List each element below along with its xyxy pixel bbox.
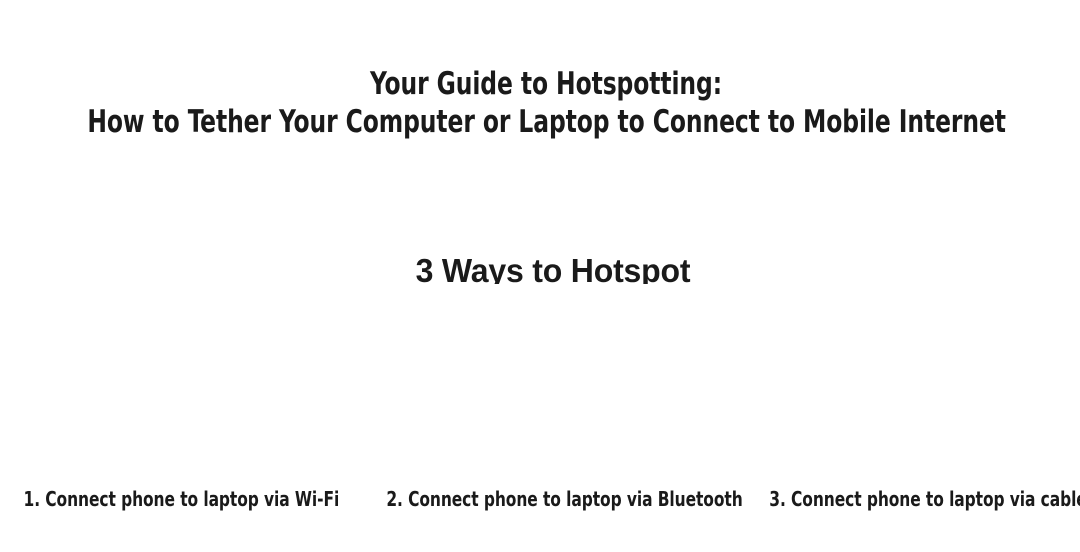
method-caption-wifi: 1. Connect phone to laptop via Wi-Fi xyxy=(24,486,313,512)
article-page: Your Guide to Hotspotting: How to Tether… xyxy=(0,0,1080,552)
page-title-line-2: How to Tether Your Computer or Laptop to… xyxy=(87,103,1004,141)
method-image-bluetooth xyxy=(368,284,712,480)
method-image-cable xyxy=(728,284,1072,480)
method-captions: 1. Connect phone to laptop via Wi-Fi 2. … xyxy=(0,486,1080,516)
page-title: Your Guide to Hotspotting: How to Tether… xyxy=(87,65,1004,141)
method-caption-cable: 3. Connect phone to laptop via cable xyxy=(766,486,1080,512)
page-title-line-1: Your Guide to Hotspotting: xyxy=(87,65,1004,103)
method-image-wifi xyxy=(8,284,352,480)
method-caption-bluetooth: 2. Connect phone to laptop via Bluetooth xyxy=(386,486,709,512)
methods-image-band xyxy=(0,284,1080,480)
